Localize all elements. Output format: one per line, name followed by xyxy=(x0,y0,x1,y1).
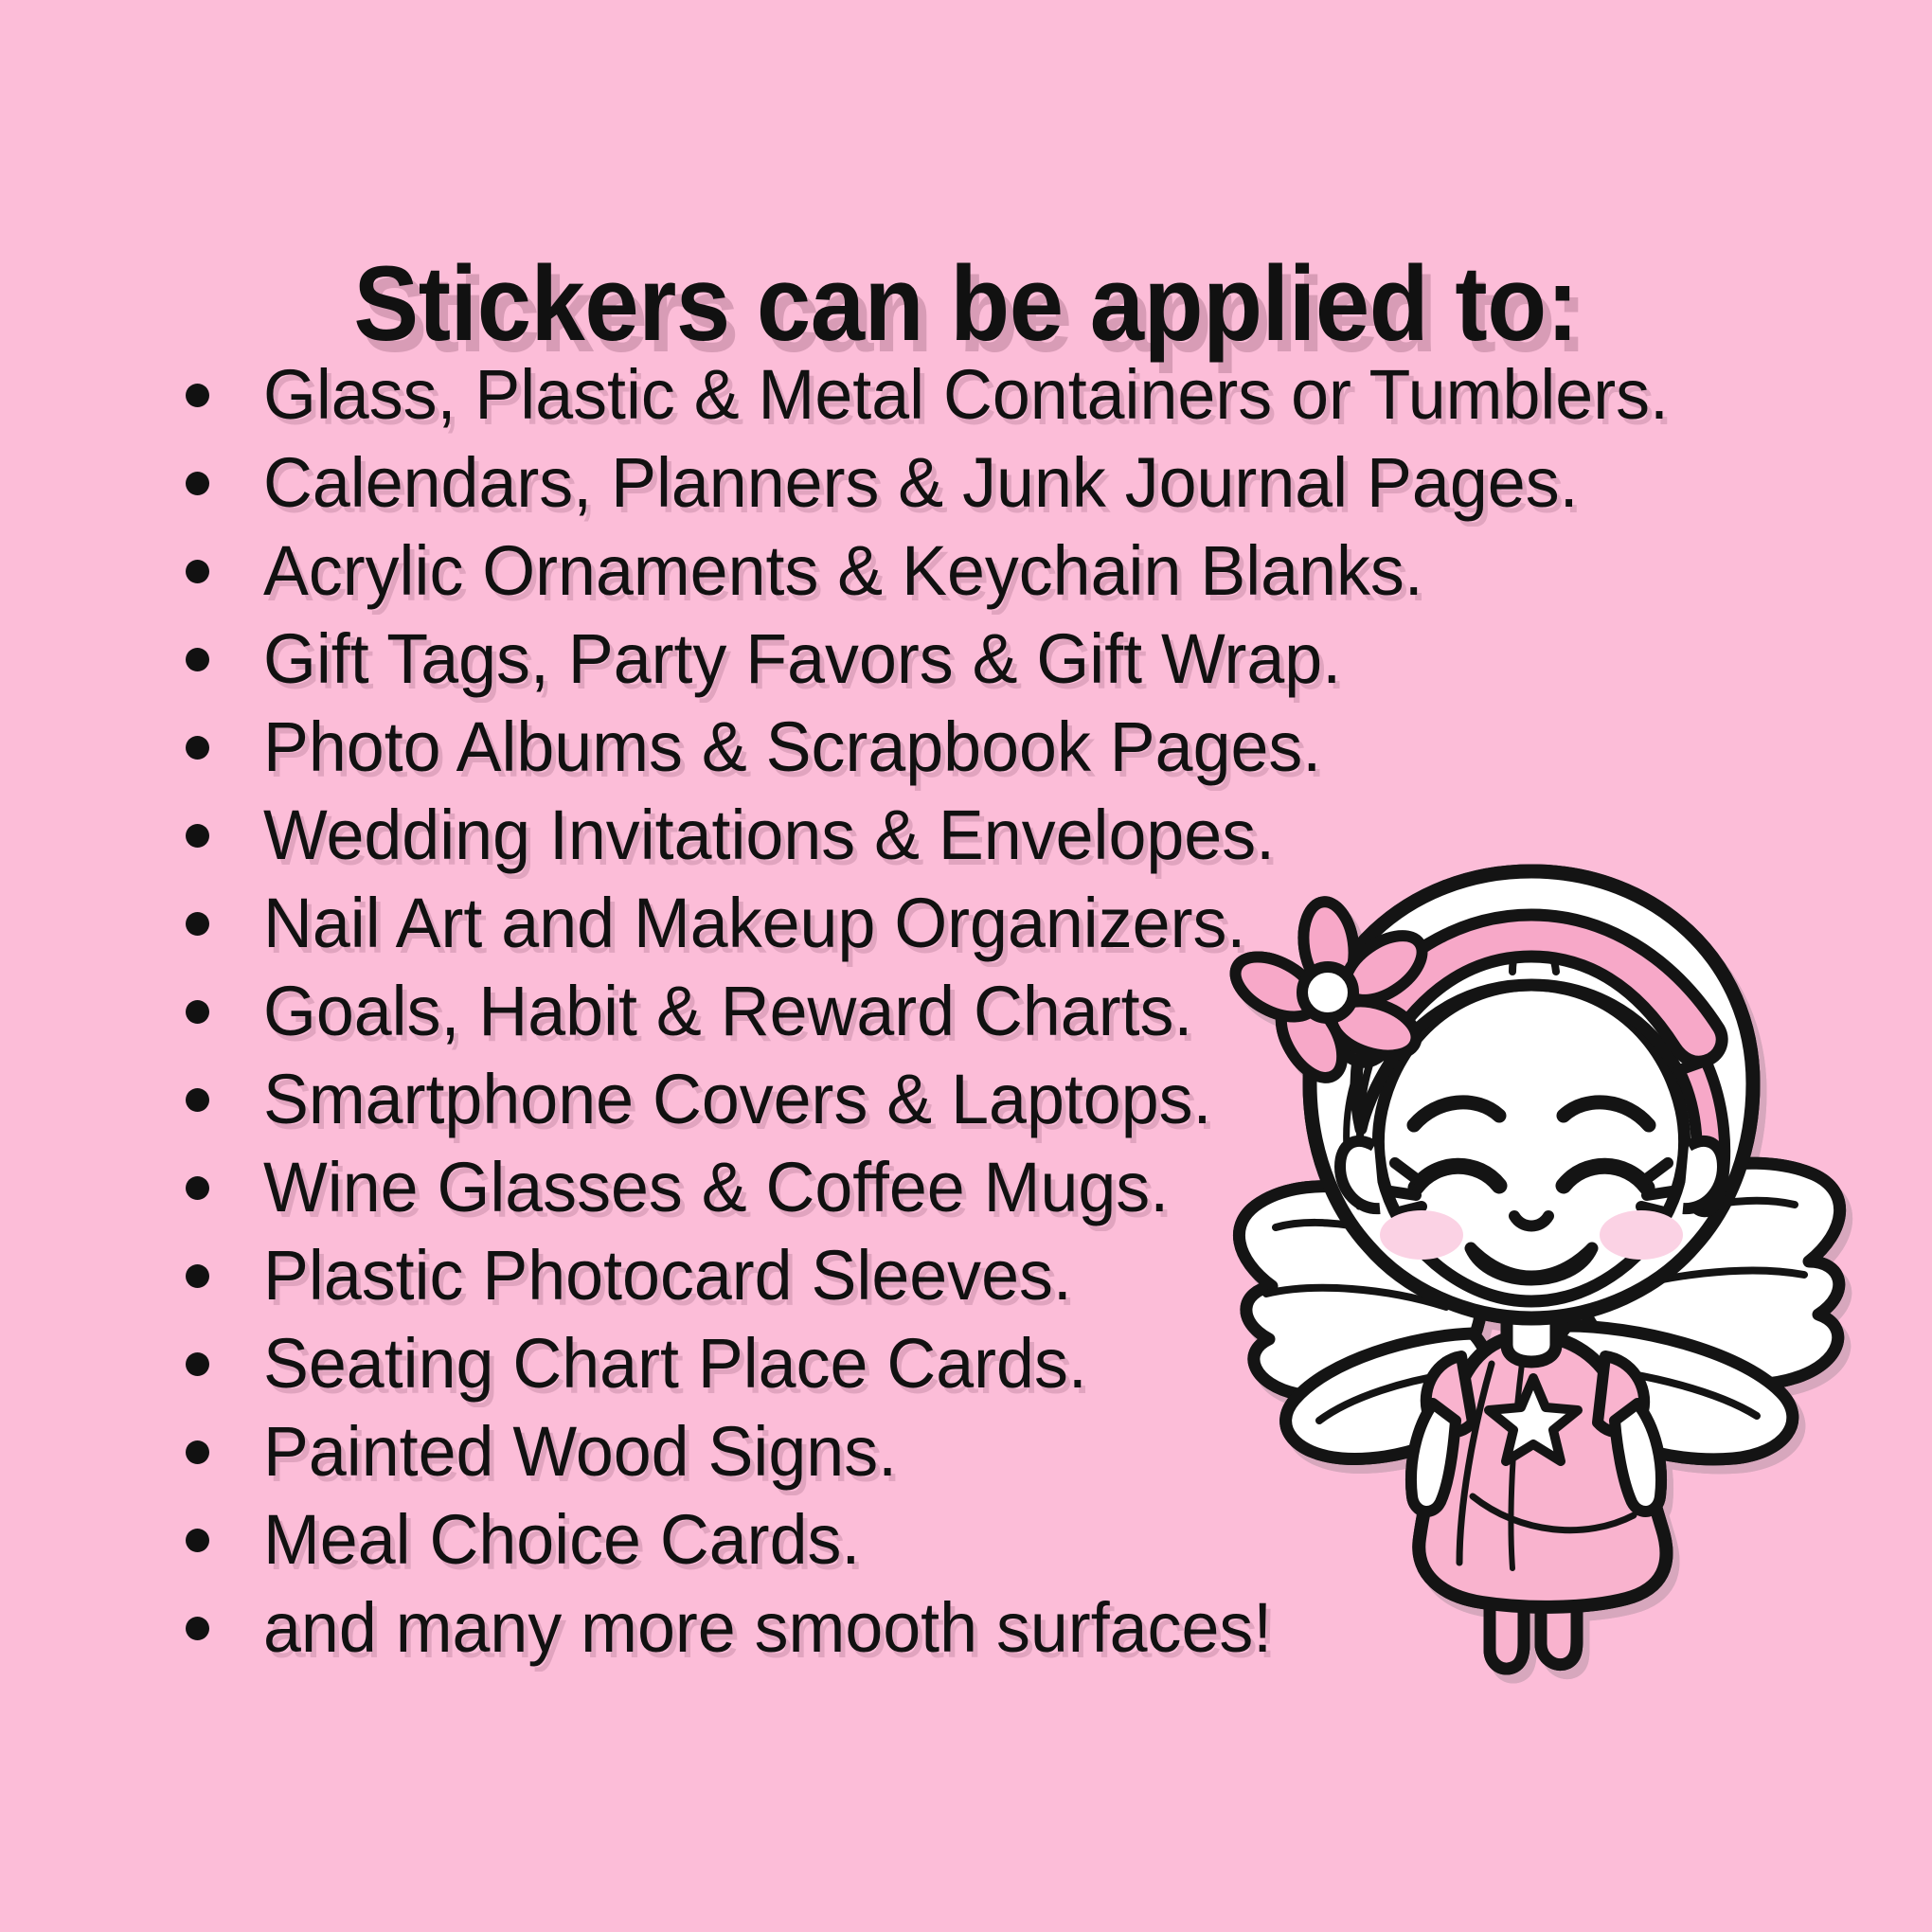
bullet-dot-icon xyxy=(186,1617,209,1640)
list-item: and many more smooth surfaces! xyxy=(0,1583,1932,1672)
list-item-label: Wedding Invitations & Envelopes. xyxy=(263,800,1275,870)
bullet-dot-icon xyxy=(186,1176,209,1200)
list-item-label: Wine Glasses & Coffee Mugs. xyxy=(263,1153,1169,1223)
bullet-dot-icon xyxy=(186,1264,209,1288)
list-item: Gift Tags, Party Favors & Gift Wrap. xyxy=(0,615,1932,703)
bullet-dot-icon xyxy=(186,560,209,583)
bullet-dot-icon xyxy=(186,1352,209,1376)
list-item: Wine Glasses & Coffee Mugs. xyxy=(0,1143,1932,1231)
list-item-label: Nail Art and Makeup Organizers. xyxy=(263,888,1245,958)
list-item: Goals, Habit & Reward Charts. xyxy=(0,967,1932,1055)
list-item-label: Gift Tags, Party Favors & Gift Wrap. xyxy=(263,624,1341,694)
list-item-label: Glass, Plastic & Metal Containers or Tum… xyxy=(263,360,1669,430)
list-item-label: Acrylic Ornaments & Keychain Blanks. xyxy=(263,536,1423,606)
bullet-dot-icon xyxy=(186,1000,209,1024)
bullet-dot-icon xyxy=(186,824,209,848)
poster-canvas: Stickers can be applied to: Glass, Plast… xyxy=(0,0,1932,1932)
list-item: Glass, Plastic & Metal Containers or Tum… xyxy=(0,350,1932,438)
list-item: Meal Choice Cards. xyxy=(0,1495,1932,1583)
bullet-dot-icon xyxy=(186,472,209,495)
surface-list: Glass, Plastic & Metal Containers or Tum… xyxy=(0,350,1932,1672)
bullet-dot-icon xyxy=(186,384,209,407)
bullet-dot-icon xyxy=(186,1440,209,1464)
bullet-dot-icon xyxy=(186,1529,209,1552)
list-item-label: Photo Albums & Scrapbook Pages. xyxy=(263,712,1321,782)
list-item: Plastic Photocard Sleeves. xyxy=(0,1231,1932,1319)
bullet-dot-icon xyxy=(186,1088,209,1112)
list-item-label: Smartphone Covers & Laptops. xyxy=(263,1064,1211,1135)
list-item-label: Seating Chart Place Cards. xyxy=(263,1329,1087,1399)
list-item-label: Painted Wood Signs. xyxy=(263,1417,897,1487)
list-item: Acrylic Ornaments & Keychain Blanks. xyxy=(0,527,1932,615)
list-item-label: Meal Choice Cards. xyxy=(263,1505,860,1575)
list-item: Wedding Invitations & Envelopes. xyxy=(0,791,1932,879)
bullet-dot-icon xyxy=(186,912,209,936)
page-title: Stickers can be applied to: xyxy=(78,251,1855,357)
list-item: Photo Albums & Scrapbook Pages. xyxy=(0,703,1932,791)
list-item: Calendars, Planners & Junk Journal Pages… xyxy=(0,438,1932,527)
list-item-label: and many more smooth surfaces! xyxy=(263,1593,1272,1663)
list-item: Seating Chart Place Cards. xyxy=(0,1319,1932,1407)
list-item: Smartphone Covers & Laptops. xyxy=(0,1055,1932,1143)
list-item: Nail Art and Makeup Organizers. xyxy=(0,879,1932,967)
bullet-dot-icon xyxy=(186,648,209,671)
list-item: Painted Wood Signs. xyxy=(0,1407,1932,1495)
bullet-dot-icon xyxy=(186,736,209,760)
list-item-label: Plastic Photocard Sleeves. xyxy=(263,1241,1072,1311)
list-item-label: Goals, Habit & Reward Charts. xyxy=(263,976,1192,1046)
list-item-label: Calendars, Planners & Junk Journal Pages… xyxy=(263,448,1579,518)
